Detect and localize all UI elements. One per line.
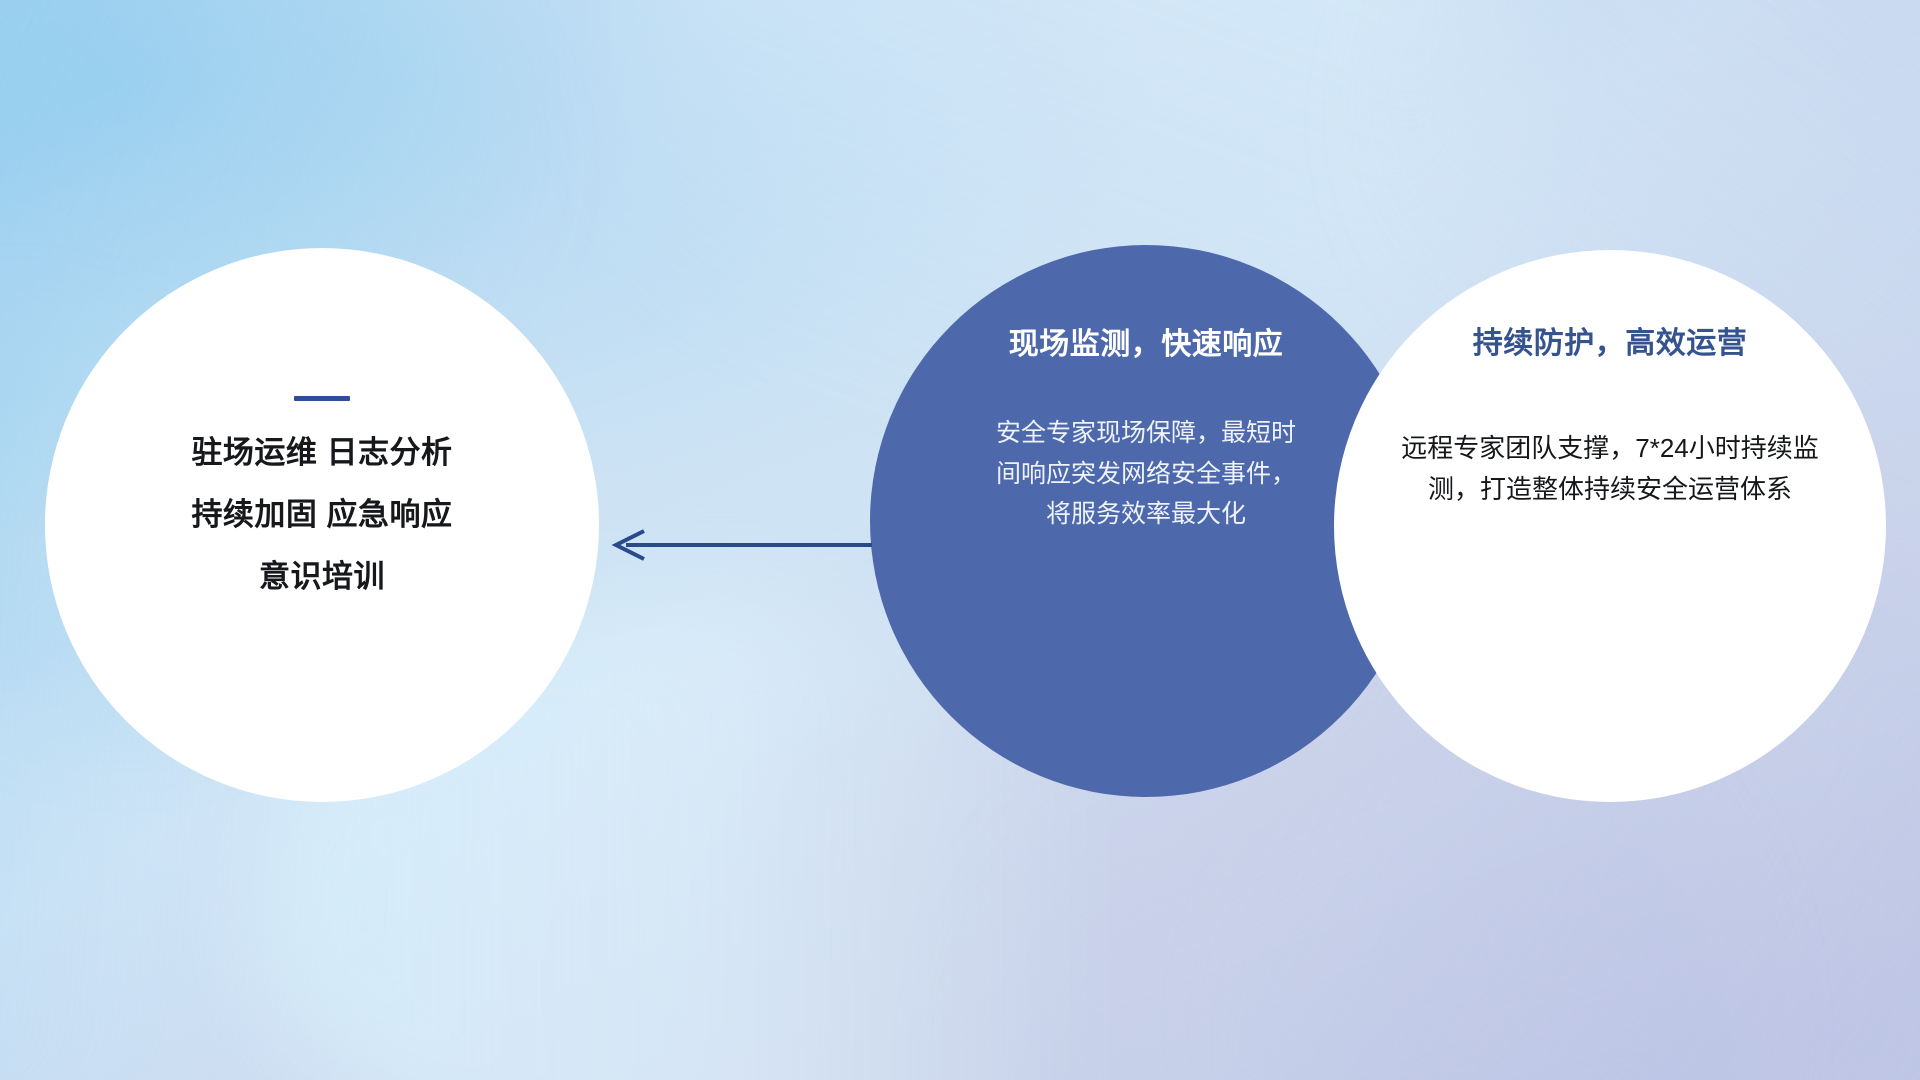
capabilities-list: 驻场运维 日志分析 持续加固 应急响应 意识培训 [191,437,452,592]
continuous-protection-circle[interactable]: 持续防护，高效运营 远程专家团队支撑，7*24小时持续监测，打造整体持续安全运营… [1334,250,1886,802]
capabilities-circle[interactable]: 驻场运维 日志分析 持续加固 应急响应 意识培训 [45,248,599,802]
continuous-protection-title: 持续防护，高效运营 [1473,318,1748,362]
capabilities-line-1: 驻场运维 日志分析 [191,437,452,468]
accent-dash-divider [294,396,350,401]
flow-arrow-left-icon [600,520,880,570]
onsite-monitoring-body: 安全专家现场保障，最短时间响应突发网络安全事件，将服务效率最大化 [996,413,1296,535]
continuous-protection-body: 远程专家团队支撑，7*24小时持续监测，打造整体持续安全运营体系 [1395,428,1825,510]
capabilities-line-2: 持续加固 应急响应 [191,499,452,530]
capabilities-line-3: 意识培训 [191,561,452,592]
onsite-monitoring-title: 现场监测，快速响应 [1009,319,1284,363]
